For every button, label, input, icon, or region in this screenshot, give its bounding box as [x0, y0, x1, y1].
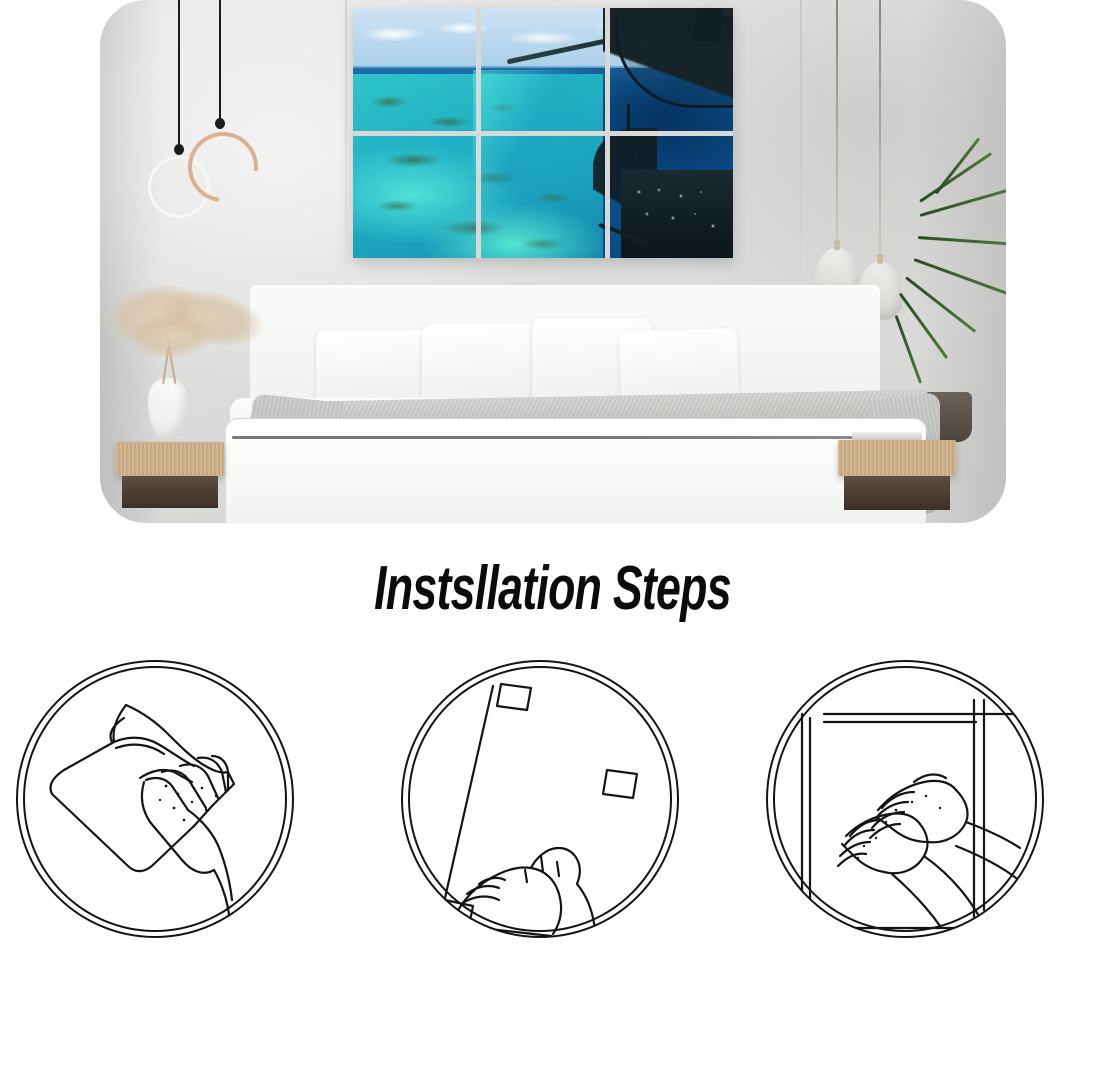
pendant-cord — [836, 0, 838, 242]
books-on-nightstand — [852, 432, 922, 440]
art-panel — [481, 136, 604, 259]
art-panel — [610, 136, 733, 259]
art-panel — [481, 8, 604, 131]
hand-peeling-adhesive-backing-icon — [401, 660, 679, 938]
reef-scene — [481, 136, 604, 258]
pendant-cord — [879, 0, 881, 256]
installation-instructions-page: Instsllation Steps — [0, 0, 1105, 1092]
bed-frame-line — [232, 436, 922, 439]
two-hands-pressing-panel-icon — [766, 660, 1044, 938]
step-2-illustration — [401, 660, 679, 938]
wall-seam — [345, 0, 347, 330]
page-title: Instsllation Steps — [155, 553, 951, 624]
wall-seam — [800, 0, 802, 290]
pillow — [316, 330, 436, 404]
reef-scene — [610, 8, 733, 131]
art-panel — [353, 136, 476, 259]
nightstand-right-shadow — [844, 476, 950, 510]
pendant-cord — [178, 0, 180, 148]
reef-scene — [353, 136, 476, 258]
reef-scene — [481, 8, 604, 131]
reef-scene — [353, 8, 476, 131]
nightstand-left-shadow — [122, 476, 218, 508]
pillow — [422, 324, 550, 406]
step-3-illustration — [766, 660, 1044, 938]
step-1-illustration — [16, 660, 294, 938]
nightstand-right — [838, 440, 956, 476]
wall-art-6-panel — [353, 8, 733, 258]
reef-scene — [610, 136, 733, 258]
nightstand-left — [116, 442, 224, 476]
pendant-cord — [219, 0, 221, 122]
art-panel — [353, 8, 476, 131]
pendant-knob — [174, 144, 184, 155]
room-photo — [100, 0, 1006, 523]
installation-steps-section: Wipe the surface with a clean rag to mak… — [0, 645, 1105, 1092]
hand-wiping-with-cloth-icon — [16, 660, 294, 938]
pendant-knob — [215, 118, 225, 129]
art-panel — [610, 8, 733, 131]
bed-base — [226, 418, 926, 523]
